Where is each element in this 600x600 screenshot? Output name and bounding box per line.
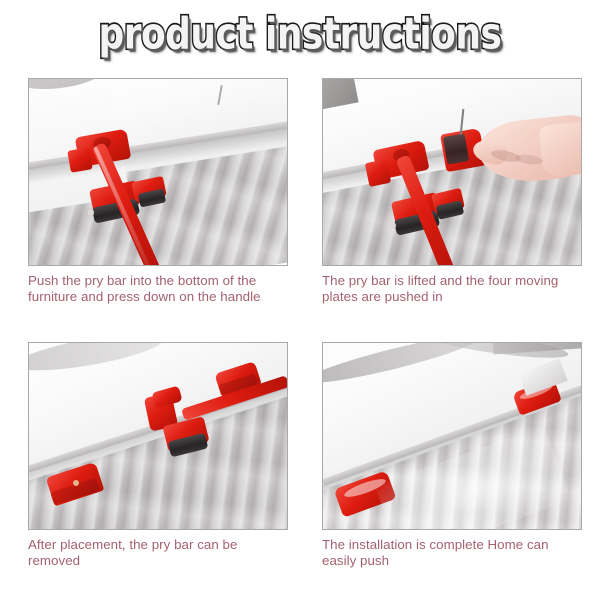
step-1-photo — [28, 78, 288, 266]
step-4-caption: The installation is complete Home can ea… — [322, 537, 584, 568]
step-4-photo — [322, 342, 582, 530]
red-lifter-foot — [365, 159, 392, 187]
plate-pivot-bolt — [87, 209, 94, 216]
step-1-caption: Push the pry bar into the bottom of the … — [28, 273, 290, 304]
step-3-photo — [28, 342, 288, 530]
instruction-step-1: Push the pry bar into the bottom of the … — [28, 78, 294, 304]
roller-right-dark-face — [443, 133, 470, 164]
instruction-step-2: The pry bar is lifted and the four movin… — [322, 78, 588, 304]
red-lifter-foot — [67, 147, 92, 172]
step-2-photo — [322, 78, 582, 266]
instruction-step-3: After placement, the pry bar can be remo… — [28, 342, 294, 568]
instruction-step-4: The installation is complete Home can ea… — [322, 342, 588, 568]
instruction-steps-grid: Push the pry bar into the bottom of the … — [0, 68, 600, 600]
plate-left-bolt — [73, 480, 79, 486]
plate-pivot-bolt — [389, 222, 396, 229]
step-3-caption: After placement, the pry bar can be remo… — [28, 537, 290, 568]
title-area: product instructions — [0, 0, 600, 68]
page-title: product instructions — [99, 12, 502, 56]
step-2-caption: The pry bar is lifted and the four movin… — [322, 273, 584, 304]
hand-wrist — [538, 120, 581, 178]
